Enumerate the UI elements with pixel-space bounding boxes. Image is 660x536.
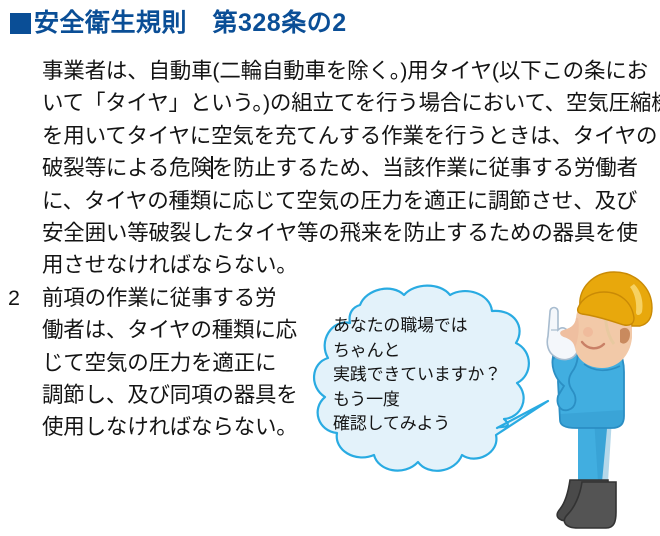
article-line-text: 働者は、タイヤの種類に応 bbox=[42, 318, 297, 342]
bubble-line: もう一度 bbox=[333, 388, 501, 413]
article-line-text: いて「タイヤ」という。)の組立てを行う場合において、空気圧縮機 bbox=[42, 91, 660, 115]
article-line-text: を防止するため、当該作業に従事する労働者 bbox=[212, 156, 638, 180]
article-line: 安全囲い等破裂したタイヤ等の飛来を防止するための器具を使 bbox=[0, 217, 660, 249]
article-line-text: 事業者は、自動車(二輪自動車を除く。)用タイヤ(以下この条にお bbox=[42, 59, 648, 83]
article-line-text: 調節し、及び同項の器具を bbox=[42, 383, 298, 407]
article-line-text: に、タイヤの種類に応じて空気の圧力を適正に調節させ、及び bbox=[42, 189, 637, 213]
article-line-text: 使用しなければならない。 bbox=[42, 415, 298, 439]
bubble-line: 実践できていますか？ bbox=[333, 363, 501, 388]
article-line: いて「タイヤ」という。)の組立てを行う場合において、空気圧縮機 bbox=[0, 87, 660, 119]
article-line-text: じて空気の圧力を適正に bbox=[42, 351, 276, 375]
article-line-text: 前項の作業に従事する労 bbox=[42, 286, 276, 310]
article-line-text: を用いてタイヤに空気を充てんする作業を行うときは、タイヤの bbox=[42, 124, 657, 148]
page-title-text: 安全衛生規則 第328条の2 bbox=[34, 11, 347, 36]
article-line: を用いてタイヤに空気を充てんする作業を行うときは、タイヤの bbox=[0, 120, 660, 152]
safety-worker-illustration bbox=[520, 268, 660, 536]
bubble-line: あなたの職場では bbox=[333, 314, 501, 339]
article-line-with-caret: 破裂等による危険を防止するため、当該作業に従事する労働者 bbox=[0, 152, 660, 184]
paragraph-marker: 2 bbox=[8, 282, 20, 314]
article-line: 事業者は、自動車(二輪自動車を除く。)用タイヤ(以下この条にお bbox=[0, 55, 660, 87]
square-bullet-icon bbox=[10, 13, 31, 34]
bubble-line: 確認してみよう bbox=[333, 412, 501, 437]
article-line-text: 用させなければならない。 bbox=[42, 253, 298, 277]
bubble-line: ちゃんと bbox=[333, 339, 501, 364]
page-title: 安全衛生規則 第328条の2 bbox=[10, 11, 347, 36]
article-line: に、タイヤの種類に応じて空気の圧力を適正に調節させ、及び bbox=[0, 185, 660, 217]
article-line-text: 安全囲い等破裂したタイヤ等の飛来を防止するための器具を使 bbox=[42, 221, 638, 245]
speech-bubble-text: あなたの職場では ちゃんと 実践できていますか？ もう一度 確認してみよう bbox=[333, 314, 501, 437]
article-line-text: 破裂等による危険 bbox=[42, 156, 212, 180]
worker-cheek bbox=[583, 327, 593, 337]
